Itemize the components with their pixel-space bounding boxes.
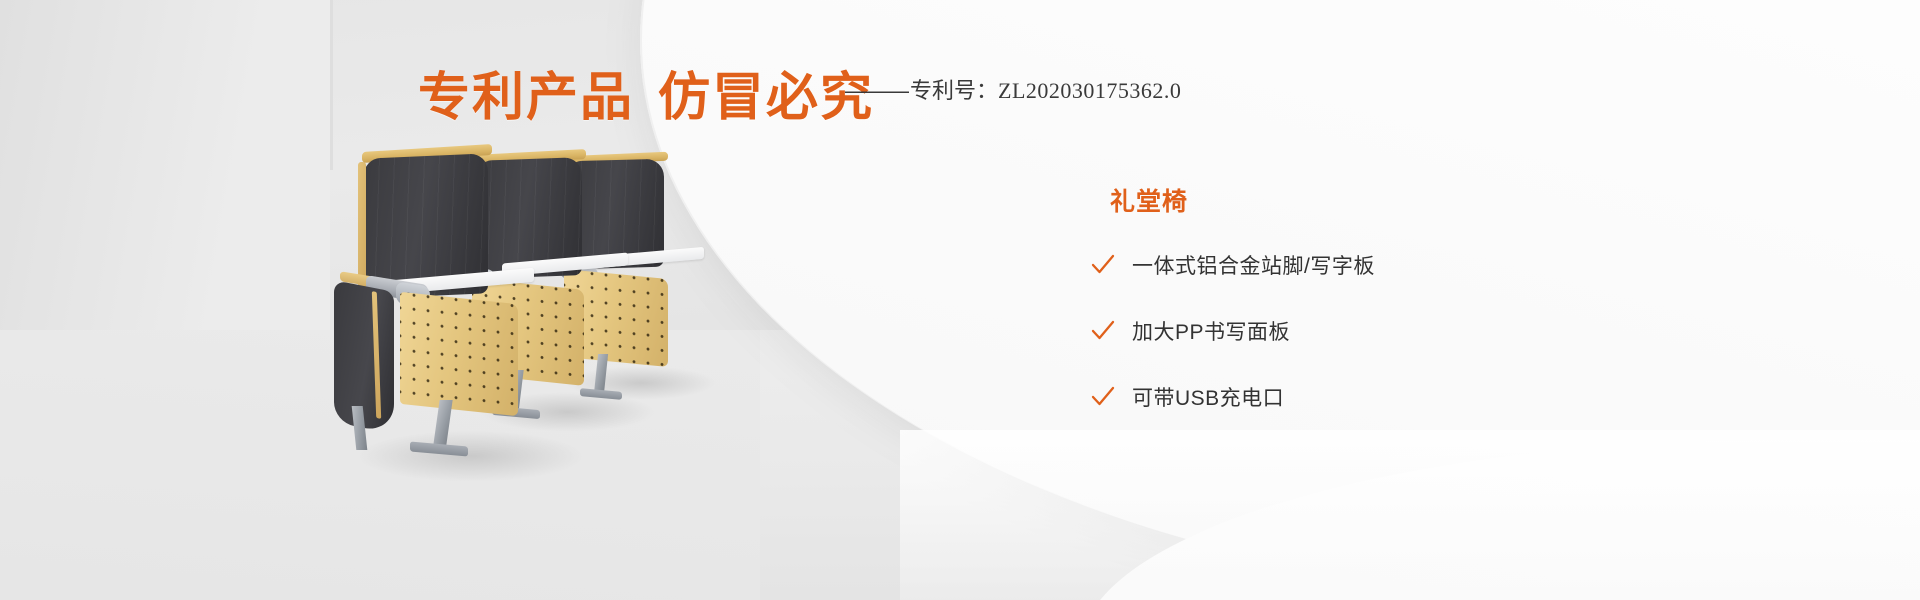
feature-list-title: 礼堂椅 xyxy=(1110,182,1530,218)
headline-part-2: 仿冒必究 xyxy=(658,69,874,127)
feature-item-1-label: 一体式铝合金站脚/写字板 xyxy=(1132,250,1375,280)
patent-label: 专利号： xyxy=(910,78,998,103)
feature-item-1: 一体式铝合金站脚/写字板 xyxy=(1090,250,1530,280)
patent-number-line: ———专利号：ZL202030175362.0 xyxy=(845,73,1181,105)
patent-dash: ——— xyxy=(845,78,908,104)
feature-item-2: 加大PP书写面板 xyxy=(1090,316,1530,346)
page-title: 专利产品仿冒必究 xyxy=(418,55,874,130)
product-image-auditorium-chairs xyxy=(330,130,760,480)
chair-1-end-panel xyxy=(334,280,394,434)
chair-1-panel-perforations xyxy=(400,292,518,416)
check-icon xyxy=(1090,384,1116,410)
feature-item-2-label: 加大PP书写面板 xyxy=(1132,316,1290,346)
check-icon xyxy=(1090,252,1116,278)
feature-item-3: 可带USB充电口 xyxy=(1090,382,1530,412)
headline-part-1: 专利产品 xyxy=(418,69,634,127)
feature-item-3-label: 可带USB充电口 xyxy=(1132,382,1284,412)
chair-unit-1 xyxy=(348,138,548,458)
feature-list: 礼堂椅 一体式铝合金站脚/写字板 加大PP书写面板 xyxy=(1110,182,1530,448)
check-icon xyxy=(1090,318,1116,344)
background-wall-shade xyxy=(0,0,330,330)
product-banner: 专利产品仿冒必究 ———专利号：ZL202030175362.0 xyxy=(0,0,1920,600)
background-floor-gloss xyxy=(900,430,1920,600)
patent-number: ZL202030175362.0 xyxy=(998,78,1181,103)
chair-1-perforated-panel xyxy=(400,292,518,416)
chair-1-foot xyxy=(410,441,468,456)
